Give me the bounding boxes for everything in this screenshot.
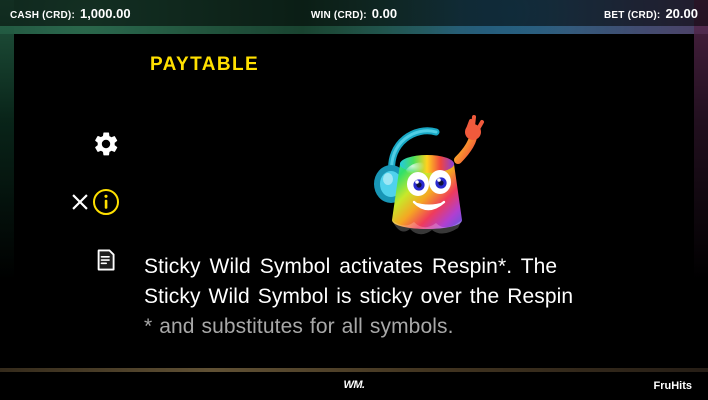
- rules-icon[interactable]: [90, 244, 122, 276]
- win-display: WIN (CRD): 0.00: [311, 6, 397, 21]
- win-value: 0.00: [372, 6, 397, 21]
- cash-display: CASH (CRD): 1,000.00: [10, 6, 131, 21]
- win-label: WIN (CRD):: [311, 10, 367, 21]
- description-line-3: * and substitutes for all symbols.: [144, 312, 684, 342]
- paytable-icon-rail: [76, 128, 146, 328]
- sticky-wild-jelly-symbol: [362, 112, 492, 244]
- info-icon[interactable]: [90, 186, 122, 218]
- paytable-panel: PAYTABLE: [14, 34, 694, 372]
- wm-logo[interactable]: WM.: [343, 379, 364, 391]
- paytable-title: PAYTABLE: [150, 54, 259, 76]
- game-screen: CASH (CRD): 1,000.00 WIN (CRD): 0.00 BET…: [0, 0, 708, 400]
- background-strip-right: [694, 0, 708, 400]
- background-strip-left: [0, 0, 14, 400]
- bet-display[interactable]: BET (CRD): 20.00: [604, 6, 698, 21]
- gear-icon[interactable]: [90, 128, 122, 160]
- game-brand-label: FruHits: [654, 380, 693, 392]
- top-hud-bar: CASH (CRD): 1,000.00 WIN (CRD): 0.00 BET…: [0, 0, 708, 26]
- description-line-1: Sticky Wild Symbol activates Respin*. Th…: [144, 252, 684, 282]
- bottom-bar: WM. FruHits: [0, 372, 708, 400]
- bet-label: BET (CRD):: [604, 10, 660, 21]
- symbol-description: Sticky Wild Symbol activates Respin*. Th…: [144, 252, 684, 342]
- description-line-2: Sticky Wild Symbol is sticky over the Re…: [144, 282, 684, 312]
- cash-label: CASH (CRD):: [10, 10, 75, 21]
- bet-value: 20.00: [665, 6, 698, 21]
- cash-value: 1,000.00: [80, 6, 131, 21]
